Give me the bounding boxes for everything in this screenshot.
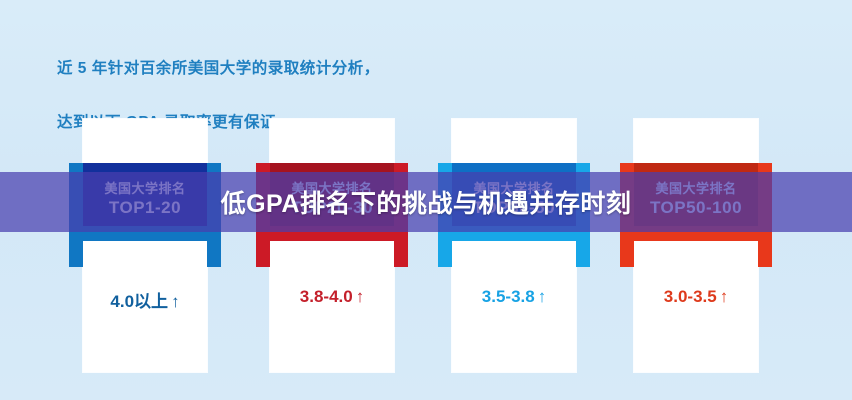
up-arrow-icon: ↑ <box>171 292 180 311</box>
ribbon-tail-left <box>256 241 270 267</box>
ribbon-tail-left <box>438 241 452 267</box>
gpa-value-row: 4.0以上↑ <box>83 287 207 312</box>
ribbon-tail-left <box>620 241 634 267</box>
overlay-banner-text: 低GPA排名下的挑战与机遇并存时刻 <box>221 184 632 220</box>
ribbon-tail-right <box>758 241 772 267</box>
gpa-value: 3.0-3.5 <box>664 287 717 306</box>
gpa-value: 4.0以上 <box>110 292 168 311</box>
infographic-canvas: 近 5 年针对百余所美国大学的录取统计分析， 达到以下 GPA 录取率更有保证 … <box>0 0 852 400</box>
ribbon-tail-left <box>69 241 83 267</box>
gpa-card: 美国大学排名 TOP50-100 3.0-3.5↑ <box>634 119 758 372</box>
gpa-card: 美国大学排名 TOP30-50 3.5-3.8↑ <box>452 119 576 372</box>
up-arrow-icon: ↑ <box>538 287 547 306</box>
gpa-value-row: 3.0-3.5↑ <box>634 287 758 307</box>
up-arrow-icon: ↑ <box>720 287 729 306</box>
ribbon-tail-right <box>576 241 590 267</box>
gpa-card: 美国大学排名 TOP1-20 4.0以上↑ <box>83 119 207 372</box>
overlay-banner: 低GPA排名下的挑战与机遇并存时刻 <box>0 172 852 232</box>
gpa-value: 3.5-3.8 <box>482 287 535 306</box>
up-arrow-icon: ↑ <box>356 287 365 306</box>
gpa-card: 美国大学排名 TOP20-30 3.8-4.0↑ <box>270 119 394 372</box>
gpa-value-row: 3.5-3.8↑ <box>452 287 576 307</box>
ribbon-tail-right <box>207 241 221 267</box>
ribbon-tail-right <box>394 241 408 267</box>
gpa-value: 3.8-4.0 <box>300 287 353 306</box>
gpa-value-row: 3.8-4.0↑ <box>270 287 394 307</box>
